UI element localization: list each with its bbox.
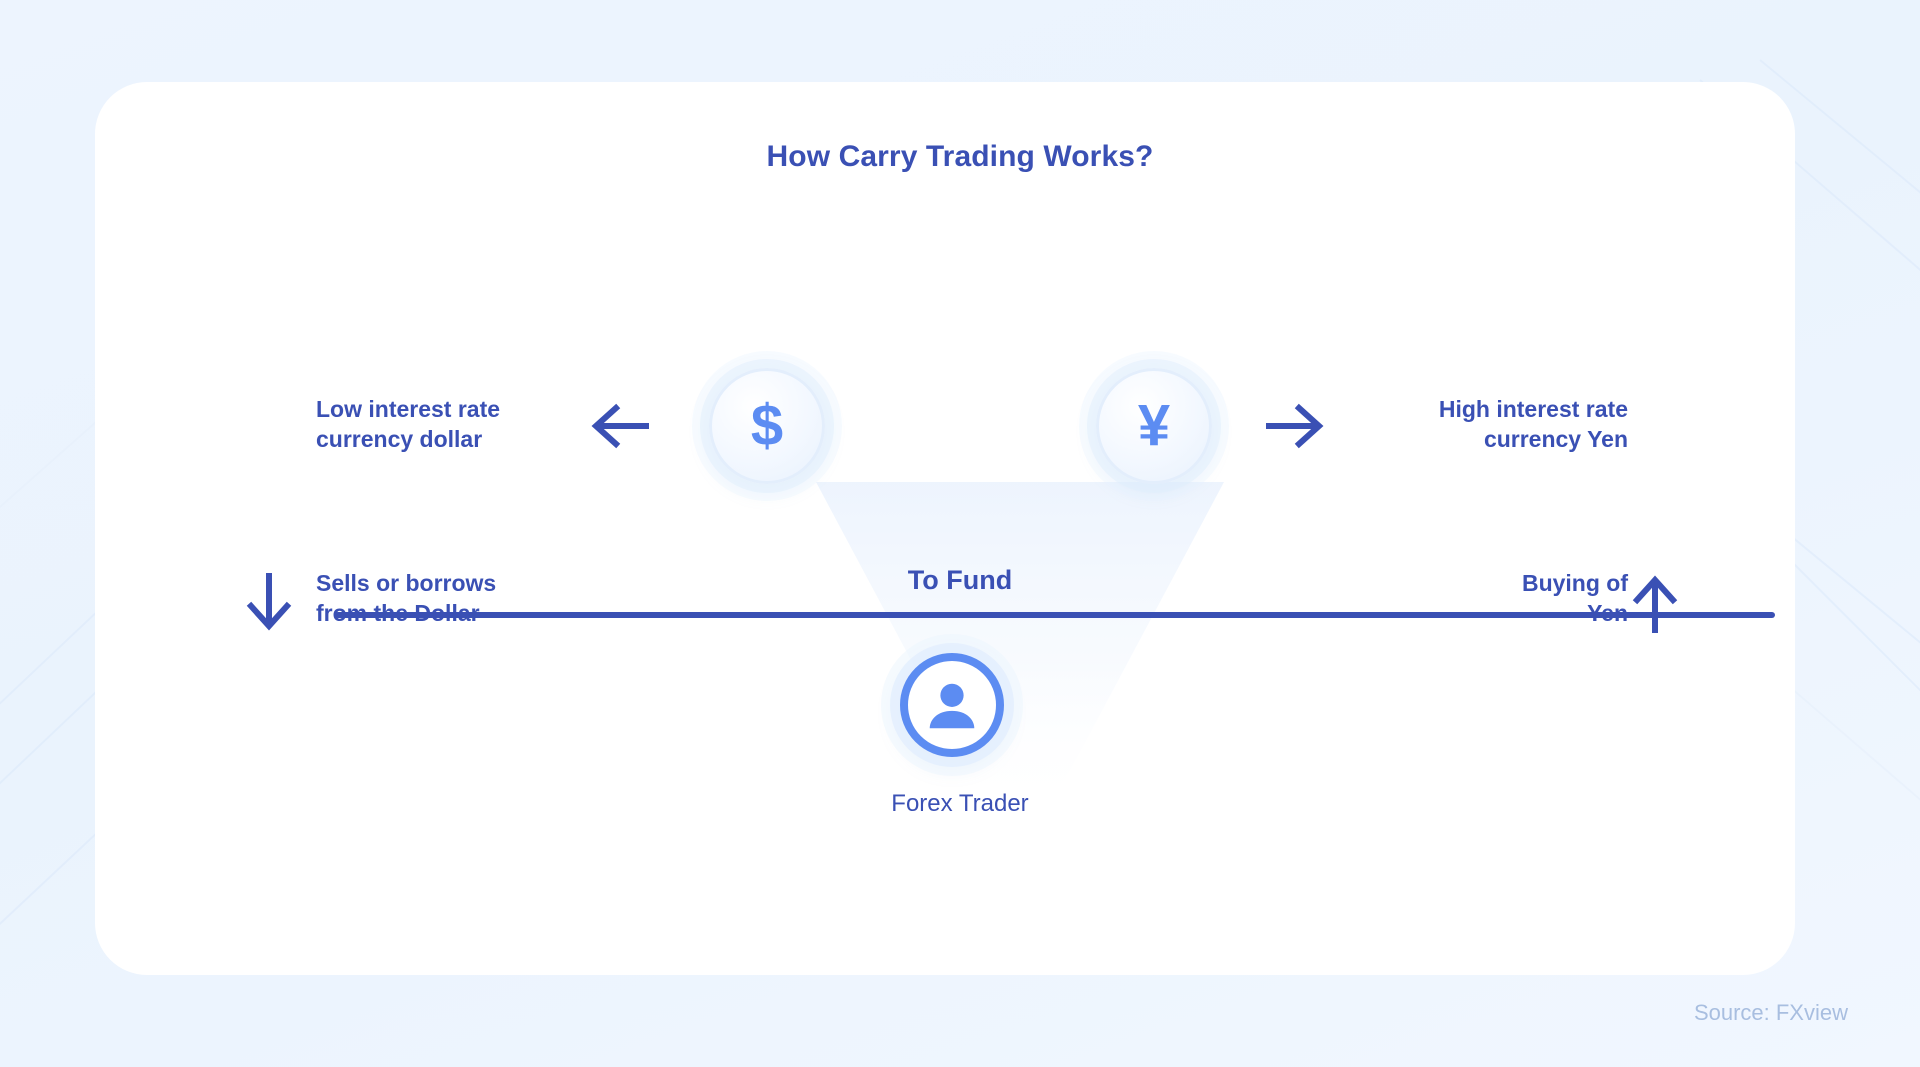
arrow-left-icon — [588, 400, 650, 452]
label-to-fund: To Fund — [0, 565, 1920, 596]
person-icon — [921, 674, 983, 736]
yen-glyph: ¥ — [1138, 397, 1170, 455]
dollar-coin-icon: $ — [709, 368, 825, 484]
yen-coin-icon: ¥ — [1096, 368, 1212, 484]
infographic-card — [95, 82, 1795, 975]
funnel-connector — [810, 482, 1230, 822]
arrow-right-icon — [1265, 400, 1327, 452]
forex-trader-avatar-icon — [900, 653, 1004, 757]
dollar-glyph: $ — [751, 397, 783, 455]
page-title: How Carry Trading Works? — [0, 140, 1920, 174]
label-high-interest-rate: High interest rate currency Yen — [1368, 394, 1628, 455]
source-attribution: Source: FXview — [1694, 1000, 1848, 1026]
label-low-interest-rate: Low interest rate currency dollar — [316, 394, 576, 455]
label-forex-trader: Forex Trader — [0, 790, 1920, 818]
